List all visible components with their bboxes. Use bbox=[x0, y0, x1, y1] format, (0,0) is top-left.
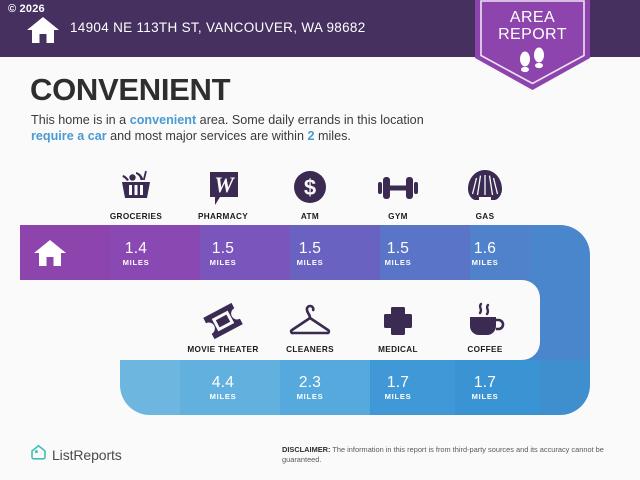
intro-text-2: area. Some daily errands in this locatio… bbox=[196, 113, 424, 127]
segment-corner-top bbox=[530, 225, 640, 280]
row1-label-groceries: GROCERIES bbox=[96, 212, 176, 221]
icon-cell-atm: $ ATM bbox=[270, 165, 350, 221]
disclaimer: DISCLAIMER: The information in this repo… bbox=[282, 445, 612, 464]
value-number: 1.7 bbox=[358, 375, 438, 391]
row1-label-pharmacy: PHARMACY bbox=[183, 212, 263, 221]
icon-cell-coffee: COFFEE bbox=[445, 298, 525, 354]
value-unit: MILES bbox=[270, 392, 350, 401]
value-unit: MILES bbox=[358, 258, 438, 267]
value-number: 1.7 bbox=[445, 375, 525, 391]
segment-bottom-start bbox=[0, 360, 180, 415]
disclaimer-text: The information in this report is from t… bbox=[282, 445, 604, 464]
coffee-cup-icon bbox=[445, 298, 525, 340]
dollar-circle-icon: $ bbox=[270, 165, 350, 207]
row2-label-medical: MEDICAL bbox=[358, 345, 438, 354]
value-unit: MILES bbox=[183, 392, 263, 401]
value-unit: MILES bbox=[96, 258, 176, 267]
value-unit: MILES bbox=[183, 258, 263, 267]
listreports-logo: ListReports bbox=[30, 444, 122, 466]
row1-value-gas: 1.6 MILES bbox=[445, 241, 525, 267]
row2-icons: MOVIE THEATER CLEANERS MEDICAL bbox=[0, 298, 640, 356]
grocery-basket-icon bbox=[96, 165, 176, 207]
value-unit: MILES bbox=[445, 392, 525, 401]
row2-label-movie-theater: MOVIE THEATER bbox=[183, 345, 263, 354]
row1-label-atm: ATM bbox=[270, 212, 350, 221]
row2-value-coffee: 1.7 MILES bbox=[445, 375, 525, 401]
row1-value-atm: 1.5 MILES bbox=[270, 241, 350, 267]
area-report-label: AREA REPORT bbox=[475, 9, 590, 43]
area-report-line1: AREA bbox=[475, 9, 590, 26]
svg-text:$: $ bbox=[304, 175, 316, 200]
area-report-line2: REPORT bbox=[475, 26, 590, 43]
intro-text-1: This home is in a bbox=[31, 113, 130, 127]
value-unit: MILES bbox=[358, 392, 438, 401]
icon-cell-cleaners: CLEANERS bbox=[270, 298, 350, 354]
intro-highlight-require-car: require a car bbox=[31, 129, 107, 143]
segment-corner-bottom bbox=[540, 360, 640, 415]
property-address: 14904 NE 113TH ST, VANCOUVER, WA 98682 bbox=[70, 20, 366, 35]
row2-value-medical: 1.7 MILES bbox=[358, 375, 438, 401]
area-report-page: © 2026 14904 NE 113TH ST, VANCOUVER, WA … bbox=[0, 0, 640, 480]
value-number: 1.5 bbox=[358, 241, 438, 257]
movie-ticket-icon bbox=[183, 298, 263, 340]
home-icon bbox=[26, 15, 60, 45]
row1-label-gym: GYM bbox=[358, 212, 438, 221]
value-number: 2.3 bbox=[270, 375, 350, 391]
intro-text-4: miles. bbox=[315, 129, 351, 143]
area-report-badge: AREA REPORT bbox=[475, 0, 590, 90]
row2-label-cleaners: CLEANERS bbox=[270, 345, 350, 354]
row2-value-cleaners: 2.3 MILES bbox=[270, 375, 350, 401]
copyright-label: © 2026 bbox=[8, 3, 45, 15]
icon-cell-medical: MEDICAL bbox=[358, 298, 438, 354]
walgreens-w-icon: W bbox=[183, 165, 263, 207]
shell-gas-icon bbox=[445, 165, 525, 207]
value-number: 1.6 bbox=[445, 241, 525, 257]
listreports-logo-icon bbox=[30, 444, 47, 466]
icon-cell-gas: GAS bbox=[445, 165, 525, 221]
intro-highlight-miles: 2 bbox=[307, 129, 314, 143]
row1-value-gym: 1.5 MILES bbox=[358, 241, 438, 267]
row1-value-pharmacy: 1.5 MILES bbox=[183, 241, 263, 267]
intro-paragraph: This home is in a convenient area. Some … bbox=[31, 112, 451, 144]
value-unit: MILES bbox=[445, 258, 525, 267]
row1-value-groceries: 1.4 MILES bbox=[96, 241, 176, 267]
icon-cell-pharmacy: W PHARMACY bbox=[183, 165, 263, 221]
icon-cell-movie-theater: MOVIE THEATER bbox=[183, 298, 263, 354]
row1-icons: GROCERIES W PHARMACY $ ATM bbox=[0, 165, 640, 223]
row2-label-coffee: COFFEE bbox=[445, 345, 525, 354]
clothes-hanger-icon bbox=[270, 298, 350, 340]
value-number: 1.4 bbox=[96, 241, 176, 257]
intro-text-3: and most major services are within bbox=[107, 129, 308, 143]
value-number: 1.5 bbox=[183, 241, 263, 257]
row2-value-movie-theater: 4.4 MILES bbox=[183, 375, 263, 401]
value-number: 4.4 bbox=[183, 375, 263, 391]
disclaimer-label: DISCLAIMER: bbox=[282, 445, 330, 454]
icon-cell-groceries: GROCERIES bbox=[96, 165, 176, 221]
page-title: CONVENIENT bbox=[30, 72, 230, 108]
value-unit: MILES bbox=[270, 258, 350, 267]
medical-cross-icon bbox=[358, 298, 438, 340]
row1-label-gas: GAS bbox=[445, 212, 525, 221]
icon-cell-gym: GYM bbox=[358, 165, 438, 221]
intro-highlight-convenient: convenient bbox=[130, 113, 196, 127]
dumbbell-icon bbox=[358, 165, 438, 207]
svg-text:W: W bbox=[214, 172, 235, 197]
value-number: 1.5 bbox=[270, 241, 350, 257]
listreports-logo-text: ListReports bbox=[52, 447, 122, 463]
row1-home-icon bbox=[33, 238, 67, 268]
